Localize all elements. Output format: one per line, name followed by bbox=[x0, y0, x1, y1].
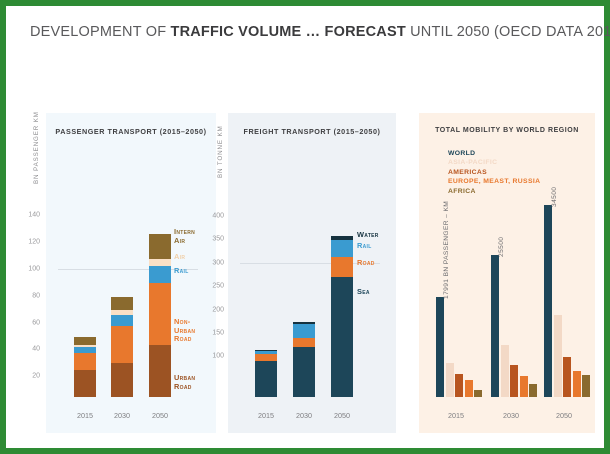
legend-road-freight: Road bbox=[357, 259, 375, 268]
x-label-mobility-2015: 2015 bbox=[448, 411, 464, 420]
x-label-freight-transport-2030: 2030 bbox=[296, 411, 312, 420]
bar-segment-sea bbox=[255, 361, 277, 397]
bar-segment-urban-road bbox=[74, 370, 96, 397]
bar-segment-non-urban-road bbox=[111, 326, 133, 363]
bar-passenger-transport-2015[interactable] bbox=[74, 337, 96, 397]
legend-world: WORLD bbox=[448, 149, 540, 158]
y-tick-passenger-transport-40: 40 bbox=[18, 346, 40, 353]
y-tick-freight-transport-150: 150 bbox=[202, 329, 224, 336]
title-prefix: DEVELOPMENT OF bbox=[30, 24, 171, 40]
y-tick-passenger-transport-140: 140 bbox=[18, 212, 40, 219]
bar-segment-urban-road bbox=[111, 363, 133, 397]
passenger-y-axis-caption: BN PASSENGER KM bbox=[33, 111, 40, 184]
legend-asia-pacific: ASIA-PACIFIC bbox=[448, 158, 540, 167]
x-label-passenger-transport-2030: 2030 bbox=[114, 411, 130, 420]
bar-mobility-2030-world[interactable] bbox=[491, 255, 499, 397]
bar-segment-intern-air bbox=[149, 234, 171, 259]
panel-mobility-title: TOTAL MOBILITY BY WORLD REGION bbox=[419, 127, 595, 134]
bar-segment-intern-air bbox=[74, 337, 96, 345]
value-label-world-2050: 34500 bbox=[551, 187, 558, 207]
y-tick-freight-transport-200: 200 bbox=[202, 306, 224, 313]
value-label-world-2030: 25500 bbox=[498, 237, 505, 257]
bar-mobility-2030-americas[interactable] bbox=[510, 365, 518, 397]
legend-rail-freight: Rail bbox=[357, 242, 372, 251]
bar-mobility-2050-world[interactable] bbox=[544, 205, 552, 397]
legend-intern-air-passenger: Intern Air bbox=[174, 228, 195, 245]
mobility-legend: WORLDASIA-PACIFICAMERICASEUROPE, MEAST, … bbox=[448, 149, 540, 196]
legend-air-passenger: Air bbox=[174, 253, 185, 262]
bar-mobility-2015-africa[interactable] bbox=[474, 390, 482, 397]
bar-segment-sea bbox=[293, 347, 315, 397]
legend-urban-road-passenger: Urban Road bbox=[174, 374, 195, 391]
bar-passenger-transport-2050[interactable] bbox=[149, 234, 171, 397]
bar-segment-road bbox=[293, 338, 315, 348]
legend-rail-passenger: Rail bbox=[174, 267, 189, 276]
x-label-freight-transport-2015: 2015 bbox=[258, 411, 274, 420]
bar-mobility-2050-americas[interactable] bbox=[563, 357, 571, 397]
bar-segment-rail bbox=[111, 315, 133, 326]
bar-segment-air bbox=[149, 259, 171, 266]
y-tick-passenger-transport-100: 100 bbox=[18, 266, 40, 273]
bar-mobility-2015-americas[interactable] bbox=[455, 374, 463, 397]
x-label-freight-transport-2050: 2050 bbox=[334, 411, 350, 420]
title-emphasis: TRAFFIC VOLUME … FORECAST bbox=[171, 24, 406, 40]
y-tick-passenger-transport-20: 20 bbox=[18, 373, 40, 380]
bar-segment-road bbox=[331, 257, 353, 277]
y-tick-passenger-transport-80: 80 bbox=[18, 292, 40, 299]
y-tick-freight-transport-250: 250 bbox=[202, 283, 224, 290]
bar-mobility-2050-asia-pacific[interactable] bbox=[554, 315, 562, 397]
bar-segment-intern-air bbox=[111, 297, 133, 310]
bar-mobility-2050-africa[interactable] bbox=[582, 375, 590, 397]
bar-segment-rail bbox=[293, 324, 315, 338]
page-title: DEVELOPMENT OF TRAFFIC VOLUME … FORECAST… bbox=[30, 24, 610, 40]
y-tick-freight-transport-400: 400 bbox=[202, 213, 224, 220]
bar-segment-sea bbox=[331, 277, 353, 397]
legend-africa: AFRICA bbox=[448, 187, 540, 196]
bar-segment-rail bbox=[331, 240, 353, 257]
x-label-mobility-2050: 2050 bbox=[556, 411, 572, 420]
panel-passenger-title: PASSENGER TRANSPORT (2015–2050) bbox=[46, 127, 216, 136]
legend-europe-meast-russia: EUROPE, MEAST, RUSSIA bbox=[448, 177, 540, 186]
title-suffix: UNTIL 2050 (OECD DATA 2019 / 2017) bbox=[406, 24, 610, 40]
y-tick-passenger-transport-60: 60 bbox=[18, 319, 40, 326]
bar-segment-rail bbox=[149, 266, 171, 283]
bar-freight-transport-2015[interactable] bbox=[255, 350, 277, 397]
infographic-frame: DEVELOPMENT OF TRAFFIC VOLUME … FORECAST… bbox=[6, 6, 604, 448]
y-tick-freight-transport-100: 100 bbox=[202, 353, 224, 360]
bar-mobility-2015-world[interactable] bbox=[436, 297, 444, 397]
x-label-passenger-transport-2050: 2050 bbox=[152, 411, 168, 420]
bar-passenger-transport-2030[interactable] bbox=[111, 297, 133, 398]
bar-mobility-2050-europe-meast-russia[interactable] bbox=[573, 371, 581, 397]
y-tick-freight-transport-300: 300 bbox=[202, 259, 224, 266]
bar-mobility-2015-europe-meast-russia[interactable] bbox=[465, 380, 473, 397]
bar-freight-transport-2050[interactable] bbox=[331, 236, 353, 397]
legend-water-freight: Water bbox=[357, 231, 379, 240]
x-label-passenger-transport-2015: 2015 bbox=[77, 411, 93, 420]
legend-americas: AMERICAS bbox=[448, 168, 540, 177]
bar-mobility-2030-africa[interactable] bbox=[529, 384, 537, 397]
bar-mobility-2015-asia-pacific[interactable] bbox=[446, 363, 454, 397]
bar-mobility-2030-europe-meast-russia[interactable] bbox=[520, 376, 528, 397]
bar-mobility-2030-asia-pacific[interactable] bbox=[501, 345, 509, 397]
bar-segment-urban-road bbox=[149, 345, 171, 397]
panel-freight-title: FREIGHT TRANSPORT (2015–2050) bbox=[228, 127, 396, 136]
y-tick-passenger-transport-120: 120 bbox=[18, 239, 40, 246]
y-tick-freight-transport-350: 350 bbox=[202, 236, 224, 243]
x-label-mobility-2030: 2030 bbox=[503, 411, 519, 420]
value-label-world-2015: 17991 BN PASSENGER – KM bbox=[443, 201, 450, 299]
freight-y-axis-caption: BN TONNE KM bbox=[217, 125, 224, 178]
legend-non-urban-road-passenger: Non- Urban Road bbox=[174, 318, 195, 344]
bar-segment-non-urban-road bbox=[74, 353, 96, 370]
legend-sea-freight: Sea bbox=[357, 288, 370, 297]
bar-segment-non-urban-road bbox=[149, 283, 171, 345]
bar-freight-transport-2030[interactable] bbox=[293, 322, 315, 397]
